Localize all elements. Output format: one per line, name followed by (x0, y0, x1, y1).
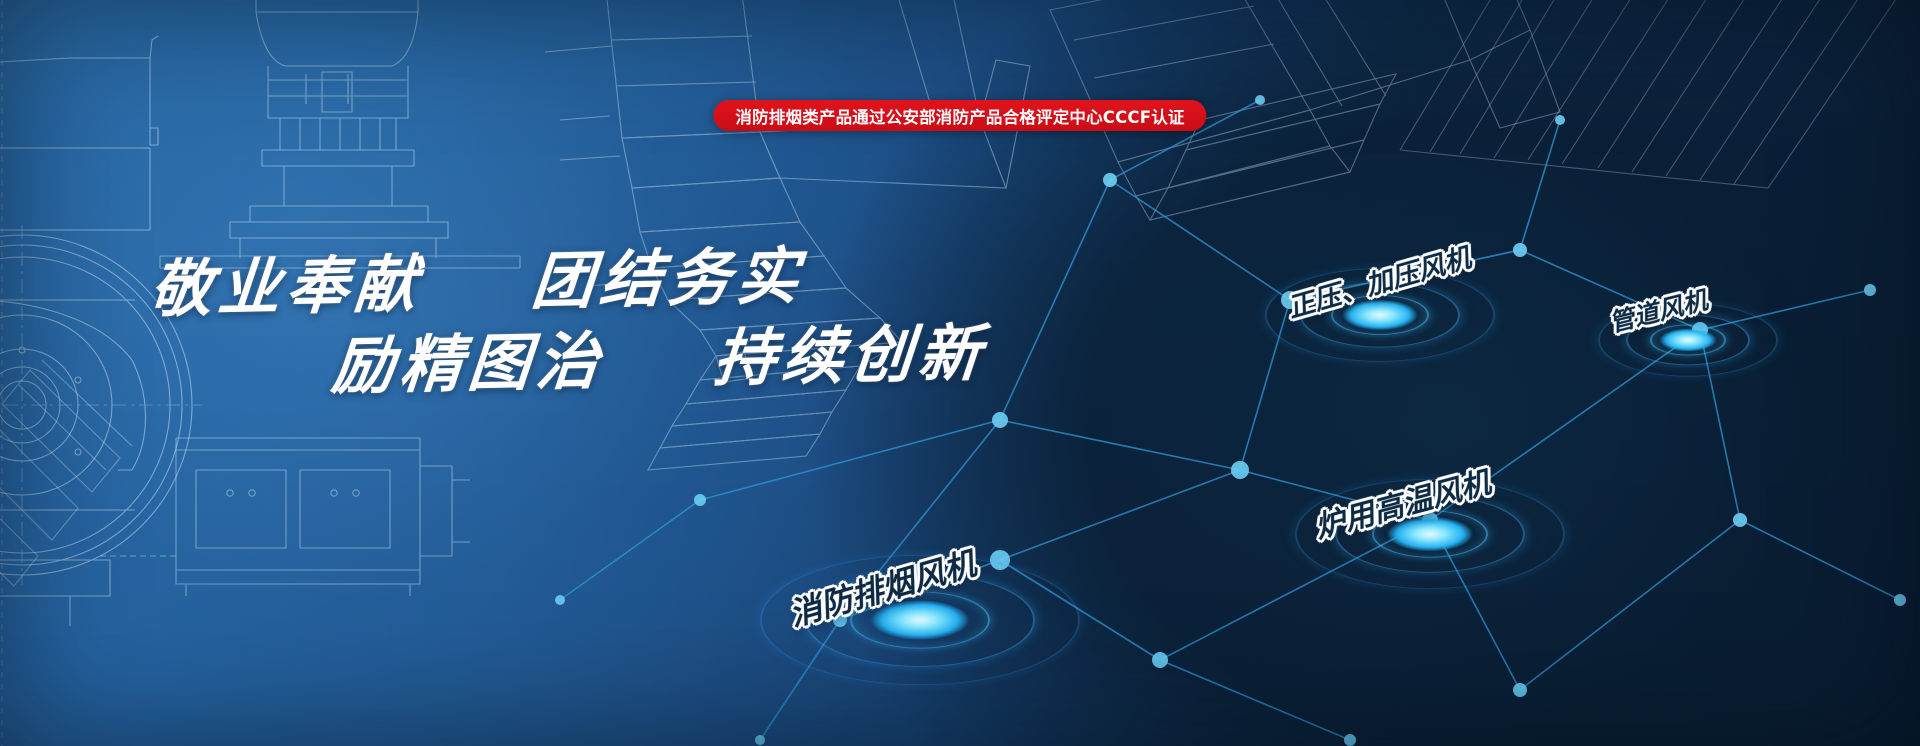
hotspot-high-temperature-furnace-fan[interactable]: 炉用高温风机 (1320, 500, 1680, 670)
certification-banner-text: 消防排烟类产品通过公安部消防产品合格评定中心CCCF认证 (735, 104, 1184, 128)
slogan-line-1-part-1: 敬业奉献 (147, 247, 426, 326)
banner-hero: 消防排烟类产品通过公安部消防产品合格评定中心CCCF认证 敬业奉献 团结务实 励… (0, 0, 1920, 746)
slogan-spacer (448, 304, 502, 305)
certification-banner: 消防排烟类产品通过公安部消防产品合格评定中心CCCF认证 (713, 100, 1206, 131)
slogan-line-2: 励精图治 持续创新 (329, 319, 989, 402)
slogan-line-2-part-1: 励精图治 (329, 325, 608, 404)
hotspot-duct-fan[interactable]: 管道风机 (1610, 320, 1860, 450)
slogan-line-1-part-2: 团结务实 (529, 239, 808, 318)
slogan-line-1: 敬业奉献 团结务实 (147, 238, 990, 325)
hotspot-fire-smoke-exhaust-fan[interactable]: 消防排烟风机 (800, 580, 1180, 746)
slogan-block: 敬业奉献 团结务实 励精图治 持续创新 (150, 255, 985, 402)
slogan-spacer (630, 381, 684, 382)
slogan-line-2-part-2: 持续创新 (711, 317, 990, 396)
glow-core (1660, 329, 1716, 352)
hotspot-pressurization-fan[interactable]: 正压、加压风机 (1290, 285, 1630, 435)
